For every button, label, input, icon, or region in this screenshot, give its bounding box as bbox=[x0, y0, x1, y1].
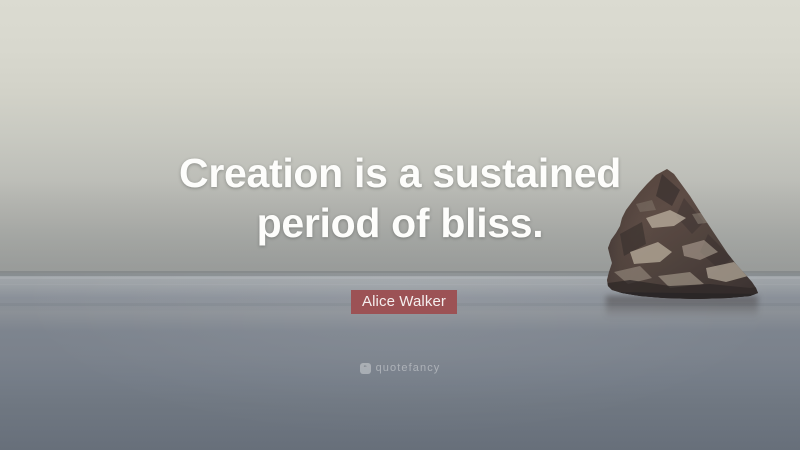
watermark-brand-text: quotefancy bbox=[376, 362, 441, 374]
watermark: “ quotefancy bbox=[0, 362, 800, 374]
quote-text: Creation is a sustained period of bliss. bbox=[0, 148, 800, 248]
quote-line-2: period of bliss. bbox=[0, 198, 800, 248]
quote-line-1: Creation is a sustained bbox=[0, 148, 800, 198]
quote-poster: Creation is a sustained period of bliss.… bbox=[0, 0, 800, 450]
author-name-badge: Alice Walker bbox=[351, 290, 457, 314]
quotefancy-logo-icon: “ bbox=[360, 363, 371, 374]
